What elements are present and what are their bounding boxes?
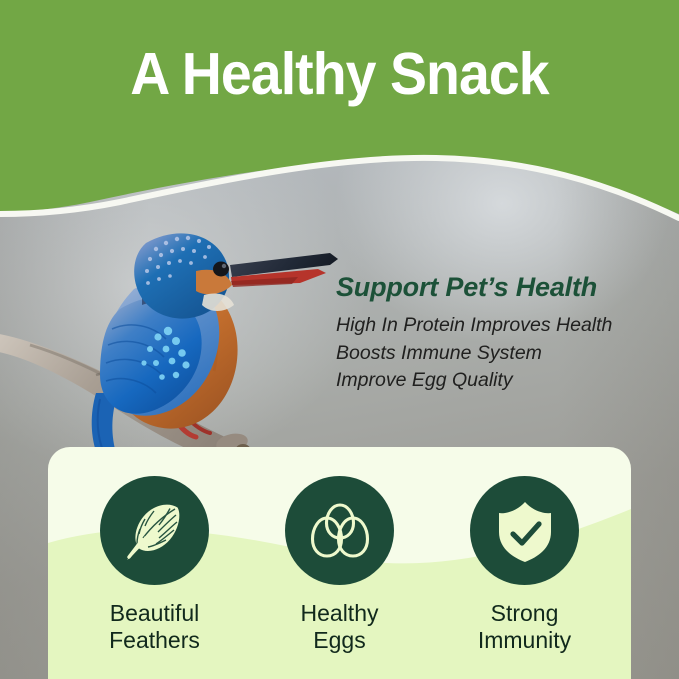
feature-item-immunity[interactable]: Strong Immunity	[437, 476, 612, 654]
shield-check-icon	[490, 496, 560, 566]
feature-list: Beautiful Feathers Healthy Eggs	[48, 447, 631, 679]
eggs-icon-circle	[285, 476, 394, 585]
eggs-icon	[305, 496, 375, 566]
feature-label-eggs: Healthy Eggs	[301, 600, 379, 654]
benefit-heading: Support Pet’s Health	[336, 272, 666, 303]
header-green-band	[0, 0, 679, 250]
benefit-copy-block: Support Pet’s Health High In Protein Imp…	[336, 272, 666, 395]
feather-icon-circle	[100, 476, 209, 585]
benefit-line-1: High In Protein Improves Health	[336, 312, 666, 340]
feature-item-eggs[interactable]: Healthy Eggs	[252, 476, 427, 654]
feature-card: Beautiful Feathers Healthy Eggs	[48, 447, 631, 679]
feather-icon	[120, 496, 190, 566]
feature-item-feathers[interactable]: Beautiful Feathers	[67, 476, 242, 654]
feature-label-feathers: Beautiful Feathers	[109, 600, 200, 654]
feature-label-immunity: Strong Immunity	[478, 600, 571, 654]
benefit-line-2: Boosts Immune System	[336, 340, 666, 368]
shield-check-icon-circle	[470, 476, 579, 585]
page-title: A Healthy Snack	[20, 44, 658, 106]
product-marketing-poster: A Healthy Snack Support Pet’s Health Hig…	[0, 0, 679, 679]
benefit-line-3: Improve Egg Quality	[336, 367, 666, 395]
